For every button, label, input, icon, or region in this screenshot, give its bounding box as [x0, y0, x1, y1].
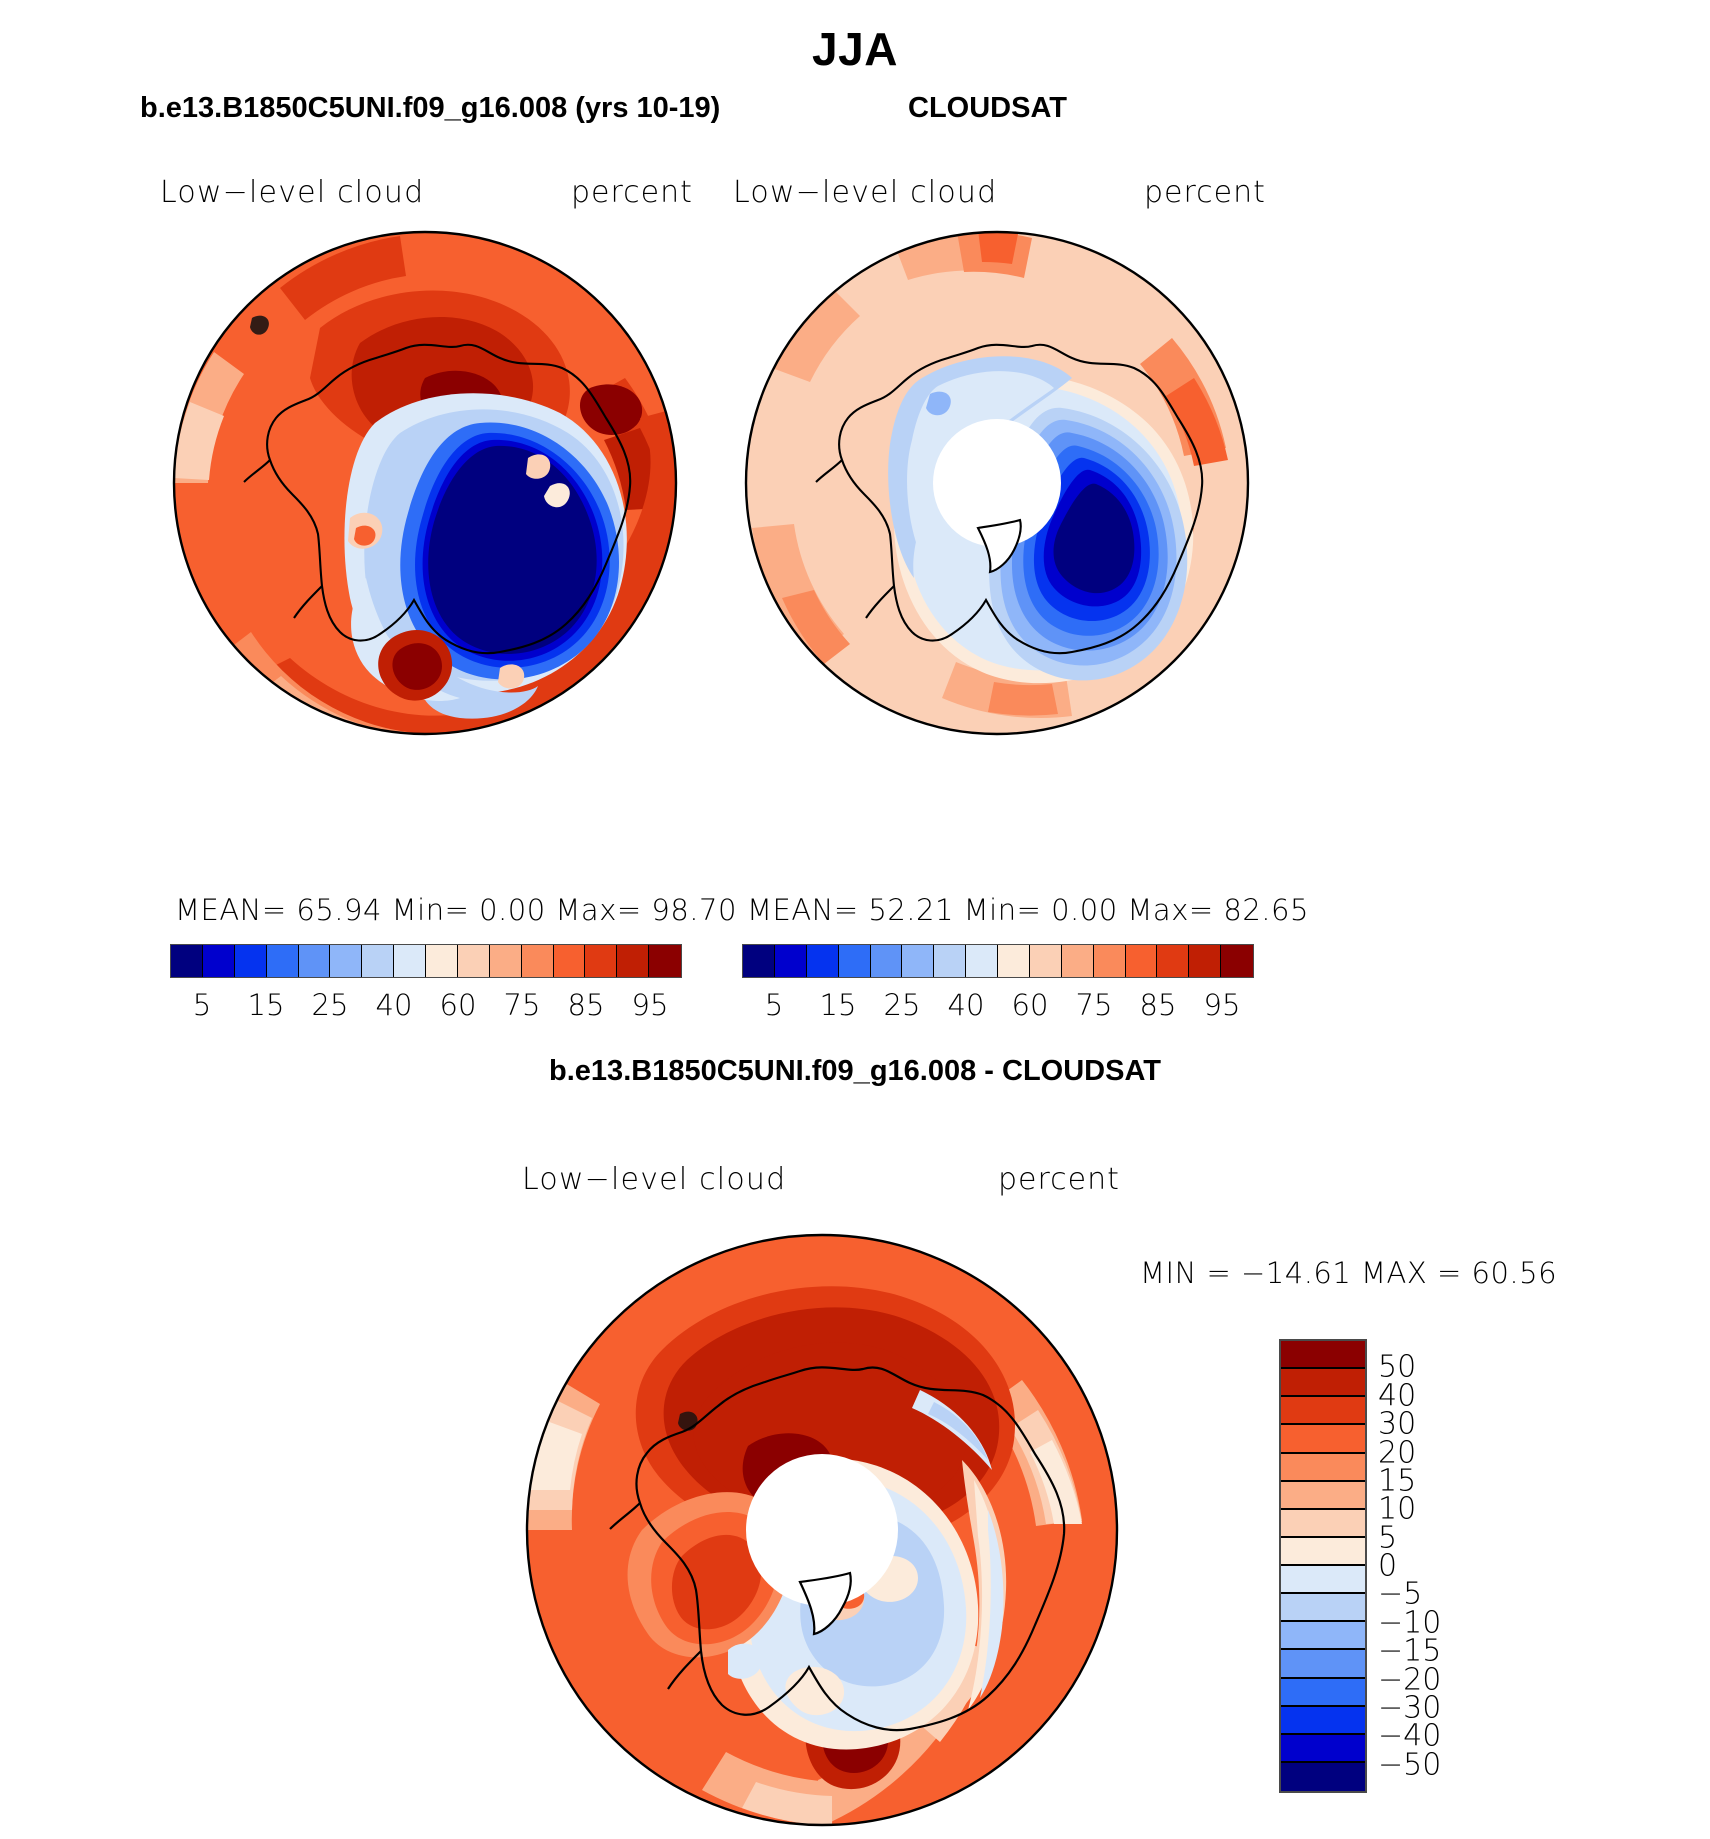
colorbar-cell	[554, 945, 586, 977]
season-title: JJA	[0, 22, 1710, 76]
colorbar-cell	[1281, 1679, 1365, 1707]
colorbar-cell	[458, 945, 490, 977]
colorbar-tick-label: 40	[948, 988, 985, 1022]
colorbar-tick-label: 85	[568, 988, 605, 1022]
colorbar-cell	[1281, 1594, 1365, 1622]
colorbar-tick-label: 15	[248, 988, 285, 1022]
colorbar-cell	[1281, 1538, 1365, 1566]
colorbar-cell	[1281, 1707, 1365, 1735]
colorbar-cell	[1281, 1425, 1365, 1453]
field-label-obs: Low−level cloud	[733, 175, 997, 210]
colorbar-tick-label: 95	[1204, 988, 1241, 1022]
map-diff	[522, 1230, 1122, 1830]
colorbar-tick-label: −50	[1378, 1747, 1441, 1782]
colorbar-cell	[362, 945, 394, 977]
colorbar-cell	[1062, 945, 1094, 977]
colorbar-cell	[1281, 1650, 1365, 1678]
colorbar-cell	[235, 945, 267, 977]
panel-title-obs: CLOUDSAT	[908, 92, 1067, 125]
colorbar-cell	[1281, 1566, 1365, 1594]
colorbar-cell	[1281, 1397, 1365, 1425]
colorbar-tick-label: 95	[632, 988, 669, 1022]
colorbar-cell	[490, 945, 522, 977]
stats-obs: MEAN= 52.21 Min= 0.00 Max= 82.65	[747, 893, 1309, 927]
panel-title-diff: b.e13.B1850C5UNI.f09_g16.008 - CLOUDSAT	[0, 1055, 1710, 1088]
colorbar-model	[170, 944, 682, 978]
map-obs-svg	[742, 228, 1252, 738]
colorbar-cell	[203, 945, 235, 977]
colorbar-cell	[1157, 945, 1189, 977]
stats-model: MEAN= 65.94 Min= 0.00 Max= 98.70	[175, 893, 737, 927]
colorbar-cell	[522, 945, 554, 977]
colorbar-cell	[1189, 945, 1221, 977]
colorbar-tick-label: 15	[820, 988, 857, 1022]
colorbar-tick-label: 5	[193, 988, 211, 1022]
colorbar-cell	[1126, 945, 1158, 977]
colorbar-cell	[1281, 1510, 1365, 1538]
colorbar-cell	[1281, 1341, 1365, 1369]
colorbar-cell	[839, 945, 871, 977]
colorbar-cell	[966, 945, 998, 977]
colorbar-cell	[1221, 945, 1253, 977]
colorbar-ticks-obs: 515254060758595	[742, 988, 1252, 1028]
unit-label-model: percent	[571, 175, 693, 210]
field-label-diff: Low−level cloud	[522, 1162, 786, 1197]
colorbar-tick-label: 60	[440, 988, 477, 1022]
map-model	[170, 228, 680, 738]
colorbar-cell	[426, 945, 458, 977]
map-diff-svg	[522, 1230, 1122, 1830]
colorbar-tick-label: 75	[504, 988, 541, 1022]
field-label-model: Low−level cloud	[160, 175, 424, 210]
colorbar-tick-label: 40	[376, 988, 413, 1022]
colorbar-cell	[649, 945, 681, 977]
colorbar-cell	[1281, 1369, 1365, 1397]
colorbar-cell	[807, 945, 839, 977]
colorbar-tick-label: 5	[765, 988, 783, 1022]
colorbar-obs	[742, 944, 1254, 978]
colorbar-cell	[1281, 1763, 1365, 1791]
colorbar-cell	[1281, 1735, 1365, 1763]
colorbar-tick-label: 60	[1012, 988, 1049, 1022]
colorbar-tick-label: 85	[1140, 988, 1177, 1022]
unit-label-diff: percent	[998, 1162, 1120, 1197]
colorbar-cell	[1030, 945, 1062, 977]
colorbar-cell	[1281, 1482, 1365, 1510]
colorbar-ticks-model: 515254060758595	[170, 988, 680, 1028]
colorbar-cell	[934, 945, 966, 977]
colorbar-cell	[299, 945, 331, 977]
colorbar-cell	[171, 945, 203, 977]
colorbar-cell	[585, 945, 617, 977]
colorbar-cell	[743, 945, 775, 977]
colorbar-cell	[1094, 945, 1126, 977]
map-model-svg	[170, 228, 680, 738]
colorbar-tick-label: 25	[312, 988, 349, 1022]
colorbar-cell	[394, 945, 426, 977]
map-obs	[742, 228, 1252, 738]
colorbar-cell	[902, 945, 934, 977]
colorbar-cell	[1281, 1622, 1365, 1650]
minmax-diff: MIN = −14.61 MAX = 60.56	[1140, 1256, 1557, 1290]
colorbar-cell	[998, 945, 1030, 977]
figure-page: JJA b.e13.B1850C5UNI.f09_g16.008 (yrs 10…	[0, 0, 1710, 1839]
colorbar-cell	[267, 945, 299, 977]
colorbar-cell	[617, 945, 649, 977]
unit-label-obs: percent	[1144, 175, 1266, 210]
panel-title-model: b.e13.B1850C5UNI.f09_g16.008 (yrs 10-19)	[140, 92, 720, 125]
colorbar-cell	[871, 945, 903, 977]
colorbar-cell	[330, 945, 362, 977]
colorbar-cell	[1281, 1454, 1365, 1482]
colorbar-diff	[1279, 1339, 1367, 1793]
colorbar-tick-label: 75	[1076, 988, 1113, 1022]
colorbar-tick-label: 25	[884, 988, 921, 1022]
colorbar-cell	[775, 945, 807, 977]
